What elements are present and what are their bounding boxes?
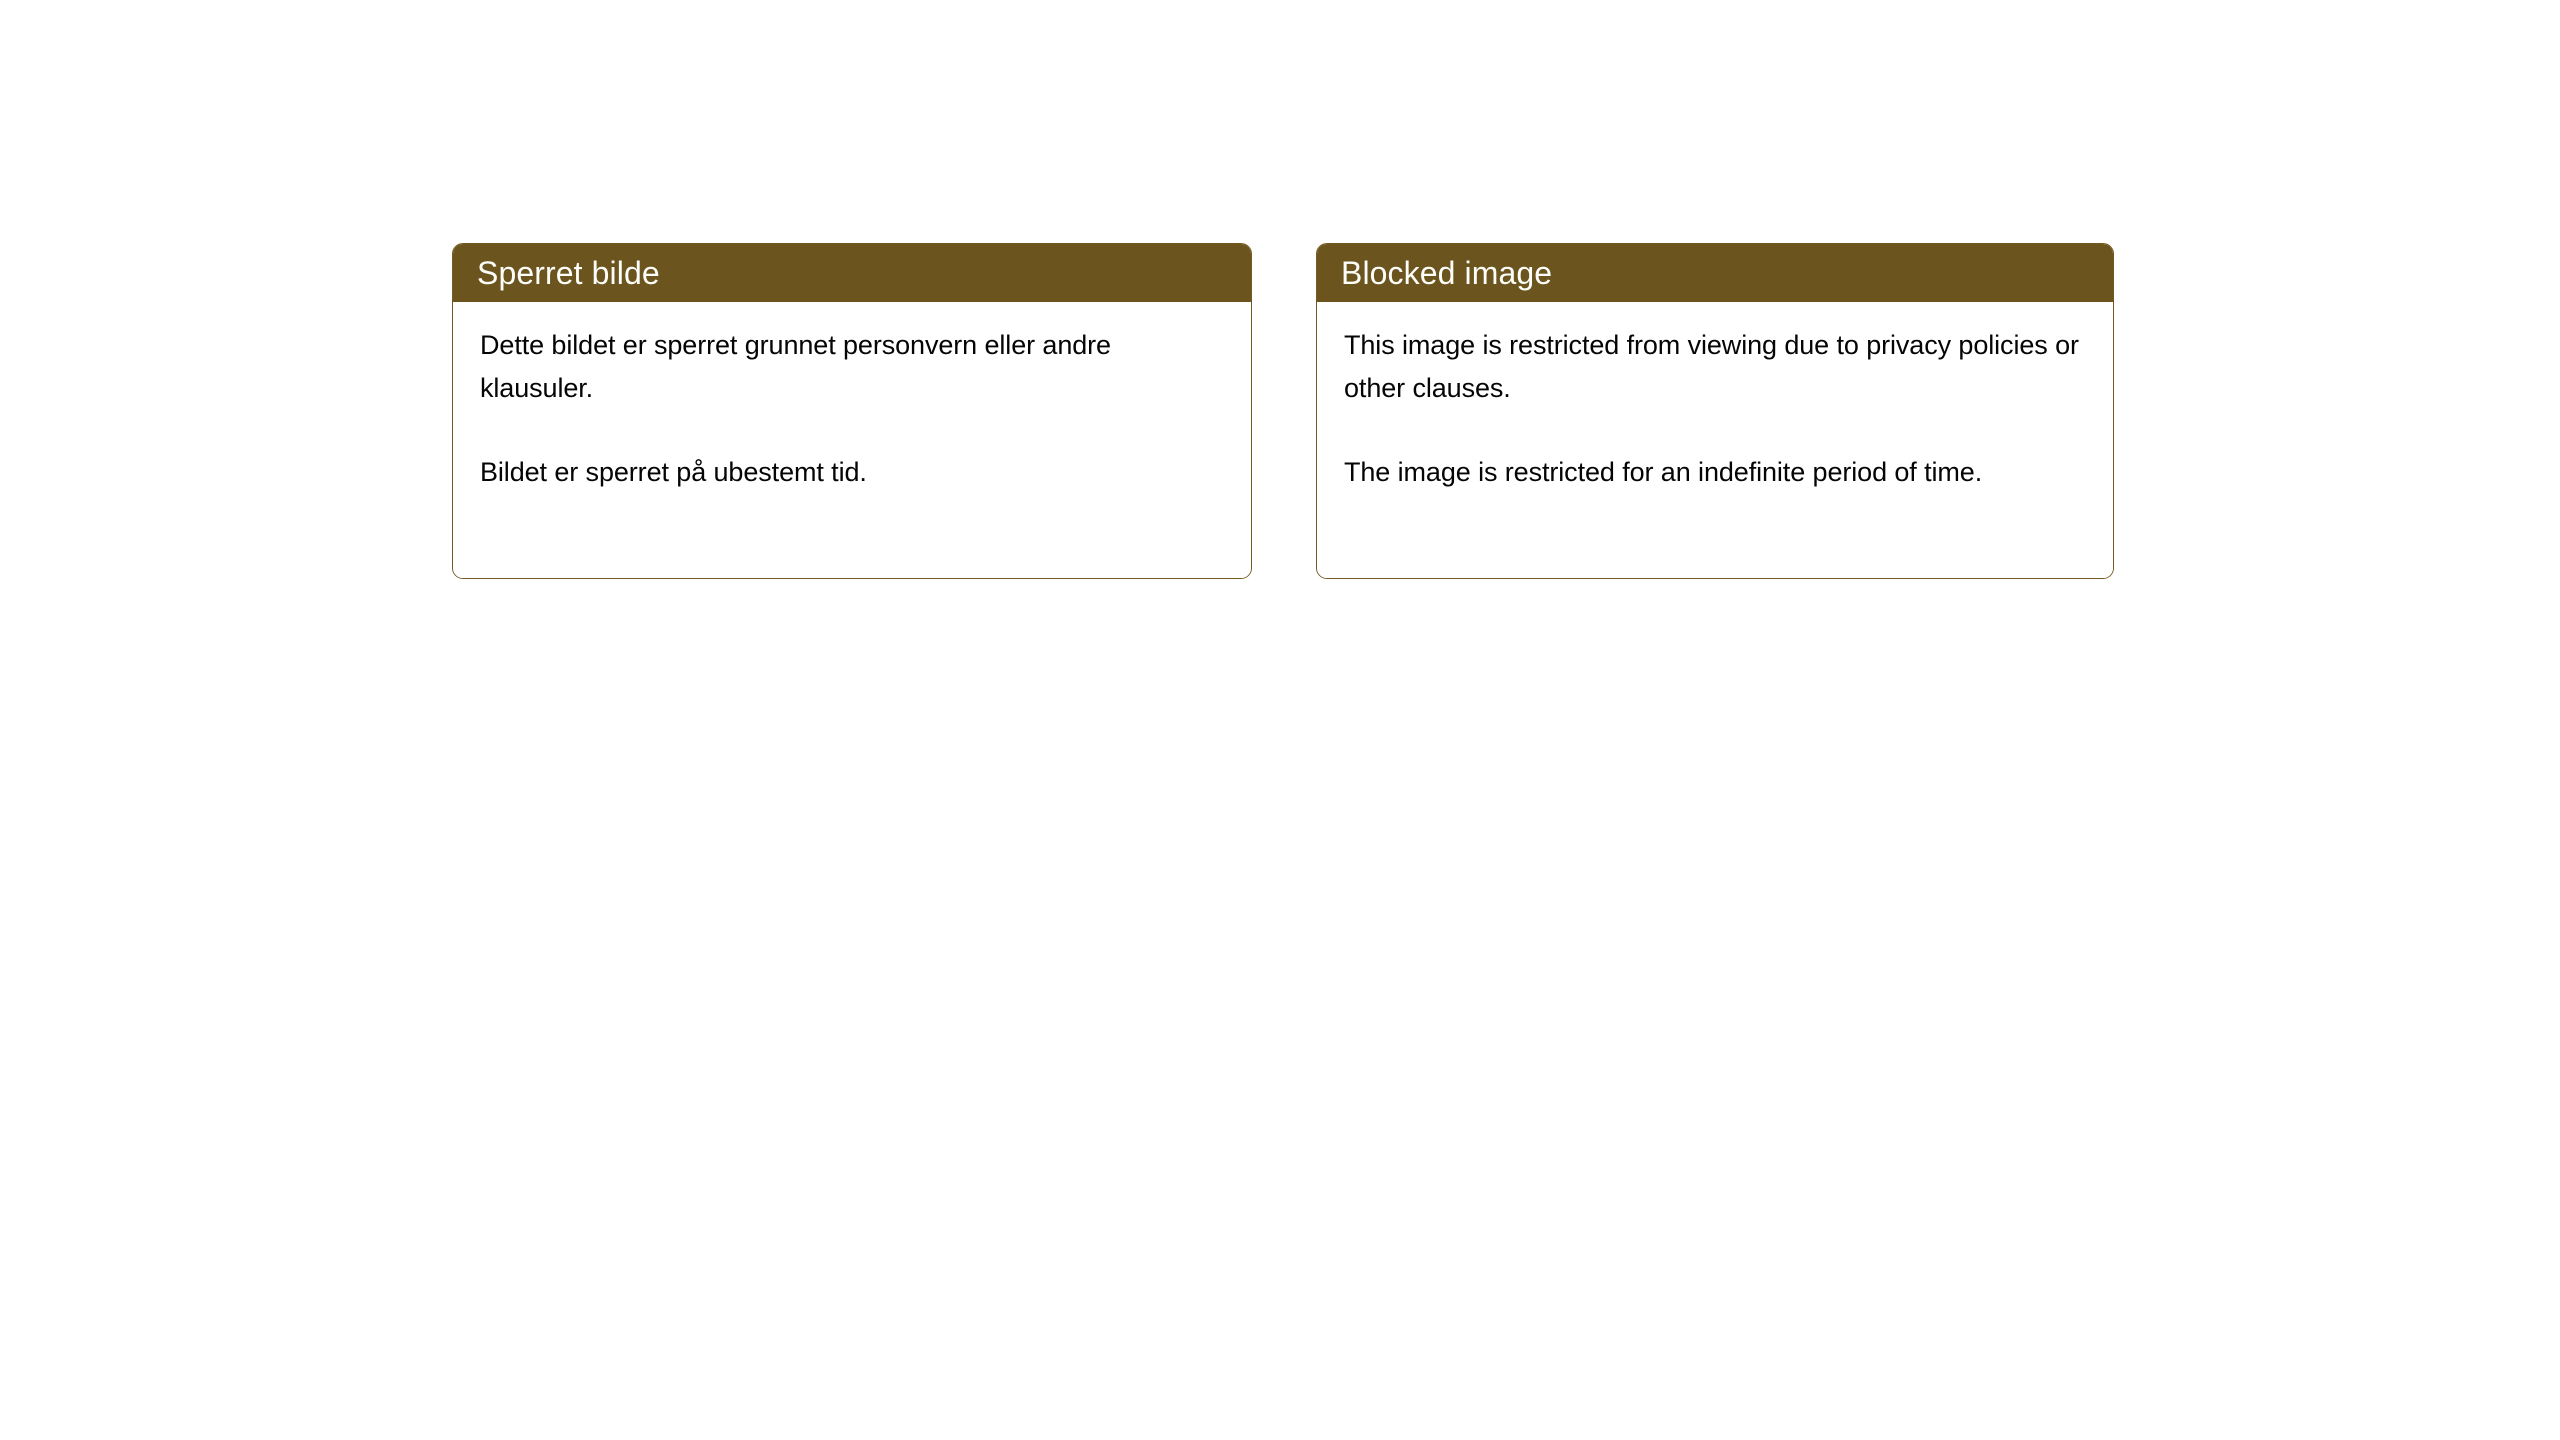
card-header-bar: Blocked image (1317, 244, 2113, 302)
blocked-image-notice-card-norwegian: Sperret bilde Dette bildet er sperret gr… (452, 243, 1252, 579)
card-paragraph-secondary: Bildet er sperret på ubestemt tid. (480, 451, 1225, 494)
card-title: Sperret bilde (477, 257, 660, 289)
card-title: Blocked image (1341, 257, 1552, 289)
card-paragraph-primary: This image is restricted from viewing du… (1344, 324, 2087, 410)
blocked-image-notice-card-english: Blocked image This image is restricted f… (1316, 243, 2114, 579)
card-body: Dette bildet er sperret grunnet personve… (453, 302, 1251, 578)
card-header-bar: Sperret bilde (453, 244, 1251, 302)
card-paragraph-primary: Dette bildet er sperret grunnet personve… (480, 324, 1225, 410)
card-paragraph-secondary: The image is restricted for an indefinit… (1344, 451, 2087, 494)
card-body: This image is restricted from viewing du… (1317, 302, 2113, 578)
page-canvas: Sperret bilde Dette bildet er sperret gr… (0, 0, 2560, 1440)
